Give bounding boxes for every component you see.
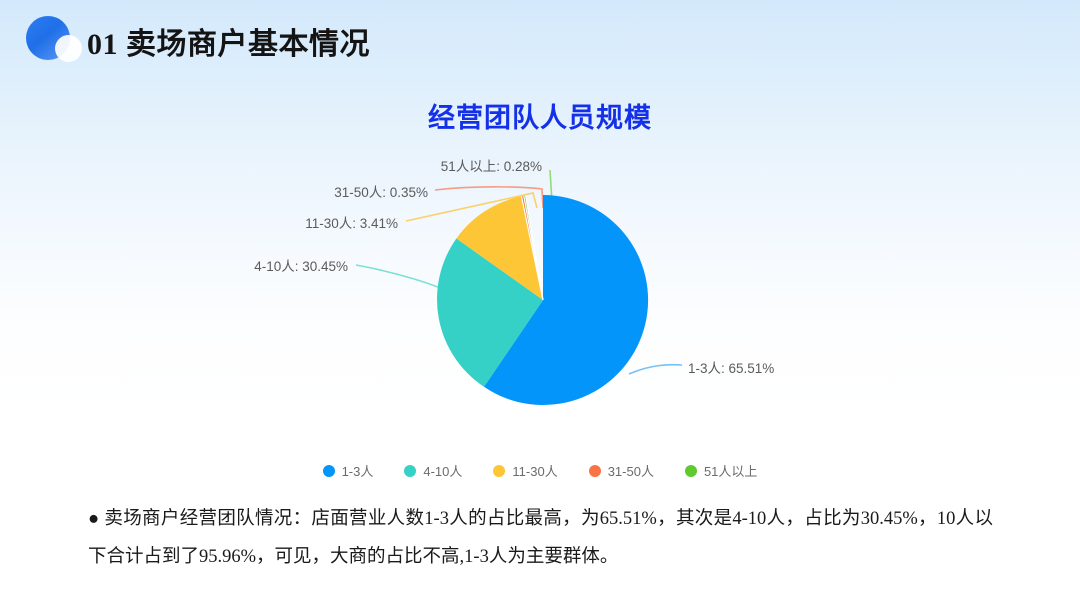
page-title: 01 卖场商户基本情况 xyxy=(87,19,370,63)
legend-label-4-10: 4-10人 xyxy=(423,461,462,480)
legend-label-31-50: 31-50人 xyxy=(608,461,654,480)
slide-header: 01 卖场商户基本情况 xyxy=(0,0,1080,84)
legend-dot-icon-1-3 xyxy=(323,465,335,477)
circle-white-icon xyxy=(55,35,82,62)
summary-text: ● 卖场商户经营团队情况：店面营业人数1-3人的占比最高，为65.51%，其次是… xyxy=(88,500,993,576)
chart-legend: 1-3人 4-10人 11-30人 31-50人 51人以上 xyxy=(0,461,1080,480)
callout-label-4-10: 4-10人: 30.45% xyxy=(230,255,348,275)
legend-dot-icon-4-10 xyxy=(404,465,416,477)
leader-line-1-3 xyxy=(629,365,682,374)
callout-label-31-50: 31-50人: 0.35% xyxy=(230,181,428,201)
legend-dot-icon-31-50 xyxy=(589,465,601,477)
legend-item-1-3[interactable]: 1-3人 xyxy=(323,461,374,480)
legend-item-51-plus[interactable]: 51人以上 xyxy=(685,461,757,480)
legend-dot-icon-11-30 xyxy=(493,465,505,477)
legend-label-51-plus: 51人以上 xyxy=(704,461,757,480)
callout-label-51-plus: 51人以上: 0.28% xyxy=(230,155,542,175)
legend-label-11-30: 11-30人 xyxy=(512,461,557,480)
chart-title: 经营团队人员规模 xyxy=(0,96,1080,135)
legend-item-31-50[interactable]: 31-50人 xyxy=(589,461,654,480)
pie-chart: 51人以上: 0.28% 31-50人: 0.35% 11-30人: 3.41%… xyxy=(230,145,850,445)
callout-label-1-3: 1-3人: 65.51% xyxy=(688,357,774,377)
legend-item-4-10[interactable]: 4-10人 xyxy=(404,461,462,480)
legend-label-1-3: 1-3人 xyxy=(342,461,374,480)
legend-dot-icon-51-plus xyxy=(685,465,697,477)
callout-label-11-30: 11-30人: 3.41% xyxy=(230,212,398,232)
legend-item-11-30[interactable]: 11-30人 xyxy=(493,461,557,480)
slide-canvas: 01 卖场商户基本情况 经营团队人员规模 xyxy=(0,0,1080,608)
